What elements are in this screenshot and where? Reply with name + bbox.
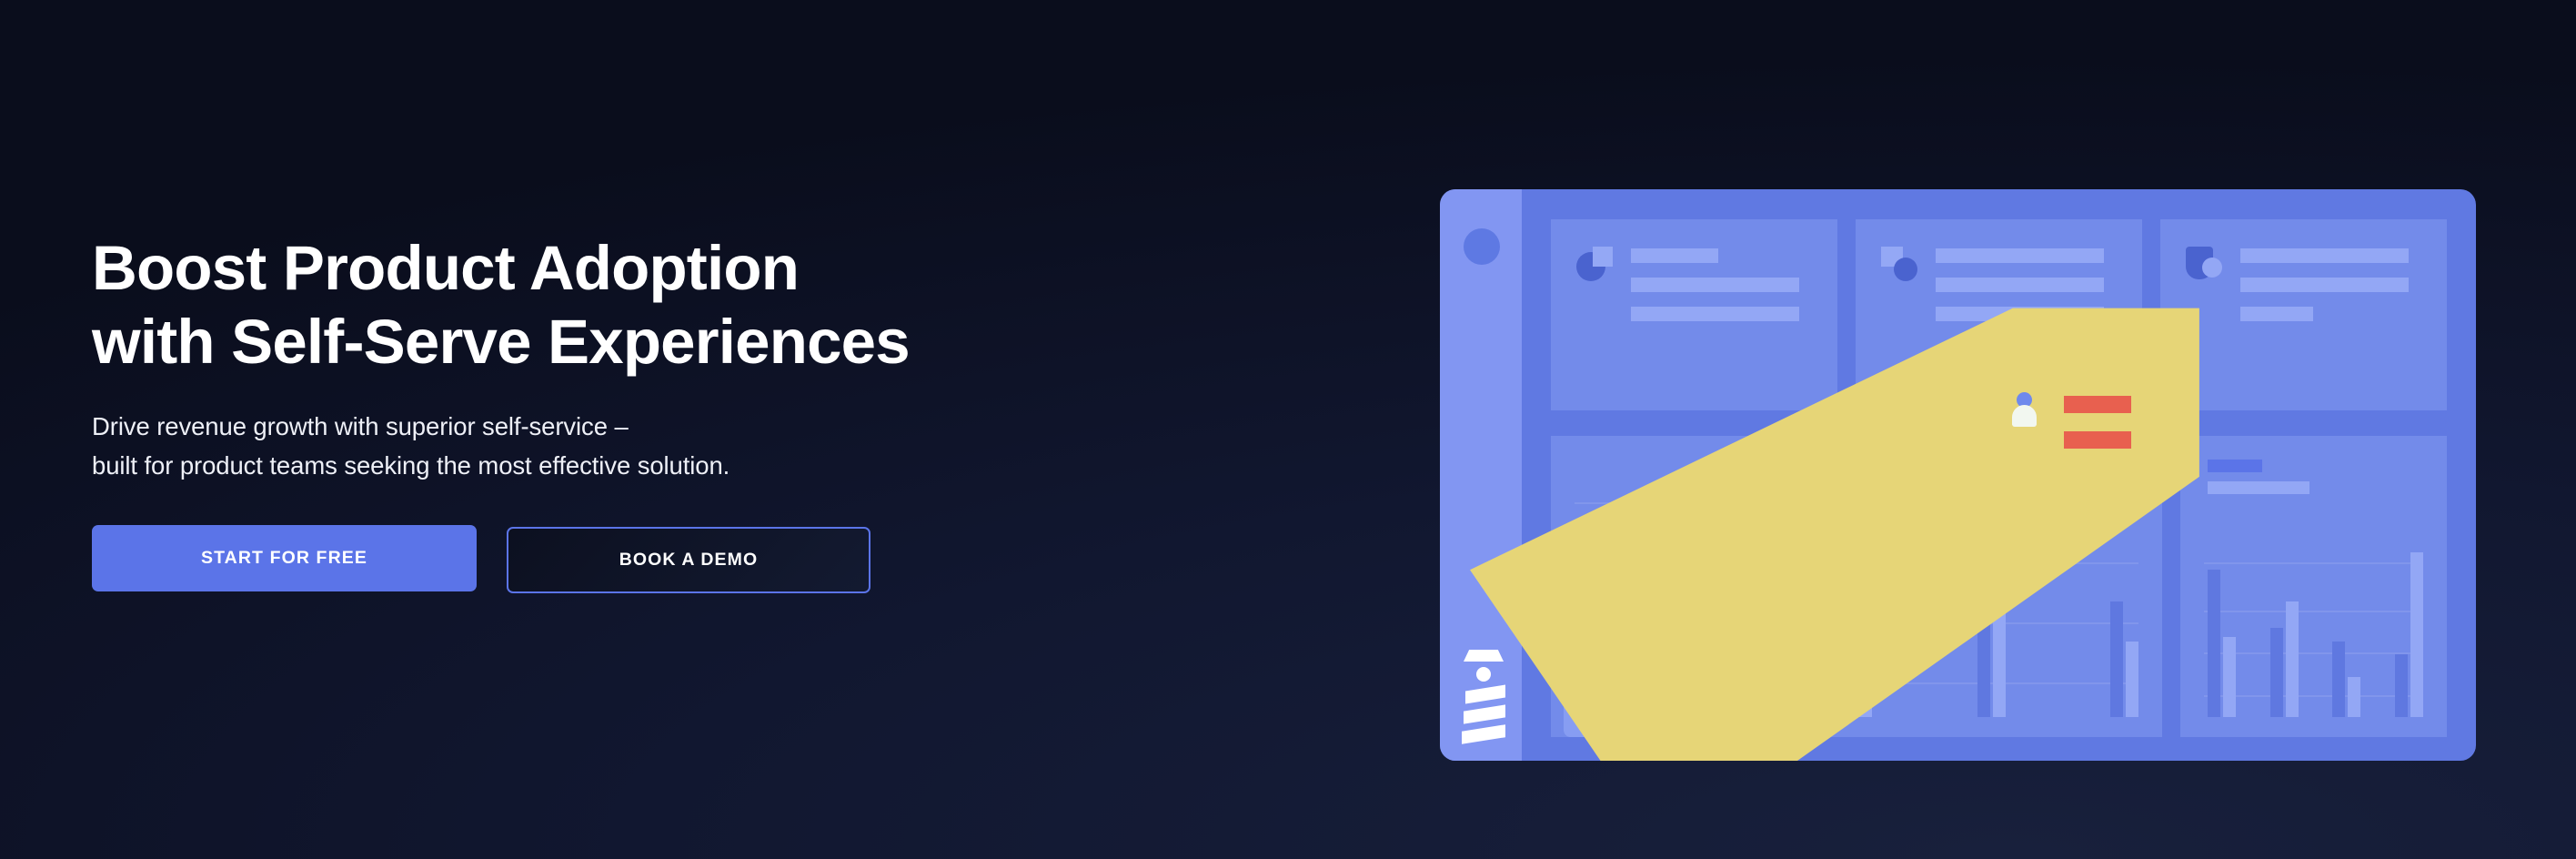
metric-card[interactable] <box>2160 219 2447 410</box>
circle-dot-icon <box>1464 228 1500 265</box>
bar-group <box>2395 494 2423 717</box>
bar-chart-icon <box>2208 494 2423 717</box>
subtitle-line-2: built for product teams seeking the most… <box>92 451 730 480</box>
shield-gauge-icon <box>2186 247 2222 283</box>
bar-group <box>2270 494 2299 717</box>
lighthouse-icon <box>1460 644 1507 744</box>
lighthouse-band-part <box>1464 704 1505 723</box>
dashboard-illustration <box>1440 189 2476 761</box>
subtitle-line-1: Drive revenue growth with superior self-… <box>92 412 629 440</box>
bar-group <box>2208 494 2236 717</box>
headline-line-2: with Self-Serve Experiences <box>92 307 910 377</box>
bar-group <box>1711 494 1739 717</box>
hero-section: Boost Product Adoption with Self-Serve E… <box>92 232 1138 593</box>
bubble-chart-icon <box>1881 247 1917 283</box>
metric-card-row <box>1551 219 2447 410</box>
cta-button-row: START FOR FREE BOOK A DEMO <box>92 525 1138 593</box>
bar-group <box>2110 494 2138 717</box>
engagement-chart-panel[interactable] <box>1551 436 2162 737</box>
metric-card-text-lines <box>1631 247 1837 410</box>
headline-line-1: Boost Product Adoption <box>92 233 799 303</box>
dashboard-sidebar <box>1440 189 1522 761</box>
page-title: Boost Product Adoption with Self-Serve E… <box>92 232 1138 379</box>
bar-group <box>1844 494 1872 717</box>
start-for-free-button[interactable]: START FOR FREE <box>92 525 477 591</box>
bar-group <box>1578 494 1606 717</box>
book-a-demo-button[interactable]: BOOK A DEMO <box>507 527 870 593</box>
bar-group <box>2332 494 2360 717</box>
metric-card-text-lines <box>1936 247 2142 410</box>
lighthouse-roof-part <box>1464 650 1504 662</box>
metric-card[interactable] <box>1551 219 1837 410</box>
bar-group <box>1977 494 2006 717</box>
lighthouse-band-part <box>1462 724 1505 744</box>
metric-card[interactable] <box>1856 219 2142 410</box>
lighthouse-lamp-part <box>1476 667 1491 682</box>
lighthouse-band-part <box>1465 685 1505 704</box>
metric-card-text-lines <box>2240 247 2447 410</box>
hero-subtitle: Drive revenue growth with superior self-… <box>92 408 1138 485</box>
dashboard-body <box>1522 189 2476 761</box>
dashboard-frame <box>1440 189 2476 761</box>
pie-chart-icon <box>1576 247 1613 283</box>
retention-chart-panel[interactable] <box>2180 436 2447 737</box>
bar-chart-icon <box>1578 494 2138 717</box>
chart-panel-row <box>1551 436 2447 737</box>
